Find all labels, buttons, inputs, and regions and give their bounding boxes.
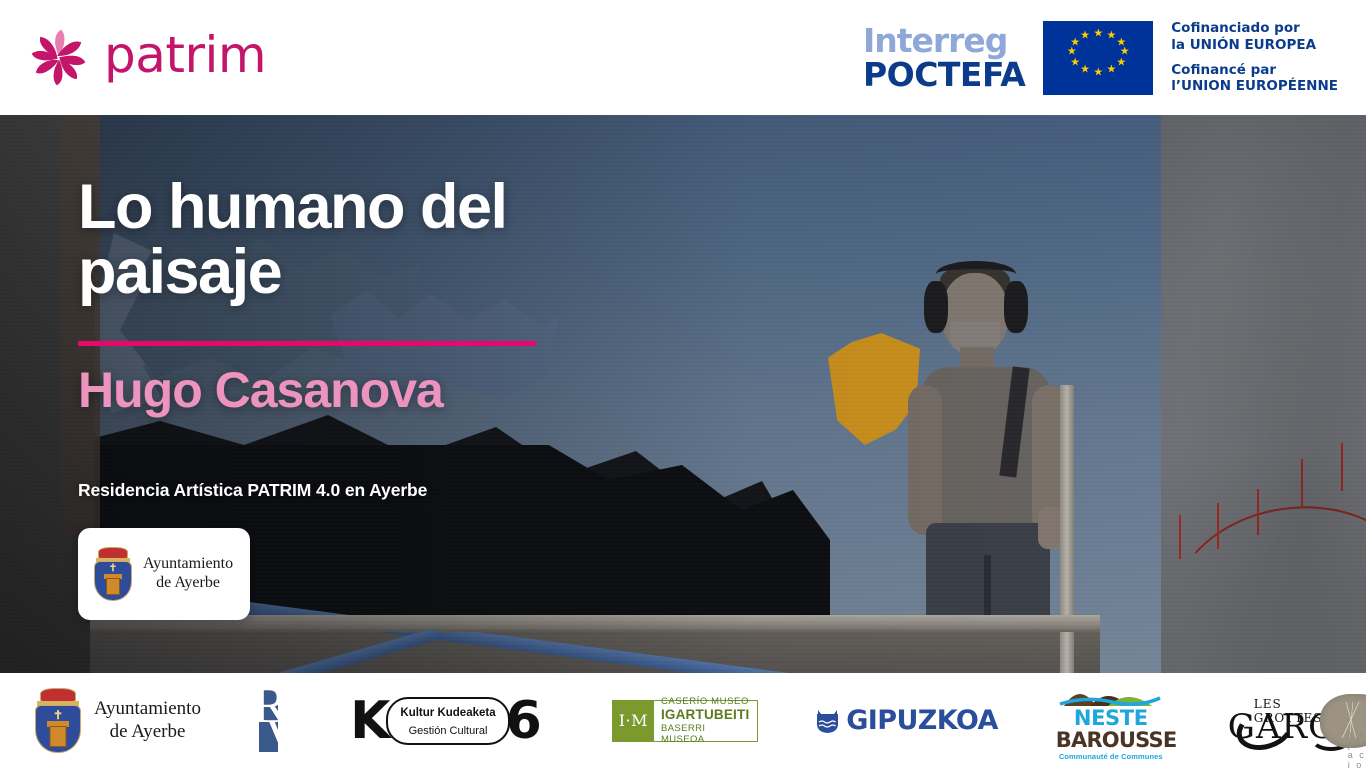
ayuntamiento-badge: ✝ Ayuntamiento de Ayerbe: [78, 528, 250, 620]
neste-line-1: NESTE: [1056, 708, 1166, 729]
footer-ayuntamiento-text: Ayuntamiento de Ayerbe: [94, 698, 201, 744]
patrim-brand: patrim: [28, 27, 266, 89]
ayuntamiento-badge-line-1: Ayuntamiento: [143, 555, 233, 574]
headphones-cup-right: [1004, 281, 1028, 333]
red-sketch-arc: [1159, 491, 1366, 673]
eu-funding-block: Interreg POCTEFA ★ ★ ★ ★ ★ ★ ★ ★ ★ ★ ★ ★…: [863, 20, 1338, 95]
hero-text-block: Lo humano del paisaje Hugo Casanova Resi…: [78, 175, 698, 501]
hero-divider-rule: [78, 341, 536, 346]
k6-letter-k: K: [350, 695, 390, 747]
footer-logo-k6: K Kultur Kudeaketa Gestión Cultural 6: [350, 695, 542, 747]
interreg-logo: Interreg POCTEFA: [863, 24, 1025, 91]
partner-logo-bar: ✝ Ayuntamiento de Ayerbe R V C K Kultur …: [0, 673, 1366, 768]
footer-logo-ayuntamiento: ✝ Ayuntamiento de Ayerbe: [30, 683, 201, 759]
neste-line-2: BAROUSSE: [1056, 729, 1166, 751]
igartubeiti-text: CASERÍO MUSEO IGARTUBEITI BASERRI MUSEOA: [654, 701, 757, 741]
patrim-wordmark: patrim: [104, 30, 266, 86]
headphones-band-icon: [936, 261, 1016, 287]
eu-funding-text: Cofinanciado por la UNIÓN EUROPEA Cofina…: [1171, 20, 1338, 95]
figure-arm-left: [908, 385, 942, 535]
footer-logo-neste-barousse: NESTE BAROUSSE Communauté de Communes: [1056, 680, 1166, 760]
footer-ayuntamiento-line-2: de Ayerbe: [94, 721, 201, 744]
eu-text-fr-2: l’UNION EUROPÉENNE: [1171, 78, 1338, 94]
headphones-cup-left: [924, 281, 948, 333]
k6-pill-line-1: Kultur Kudeaketa: [400, 707, 495, 719]
k6-pill-line-2: Gestión Cultural: [409, 725, 488, 737]
eu-text-es-2: la UNIÓN EUROPEA: [1171, 37, 1338, 53]
hero-title-line-1: Lo humano del: [78, 175, 698, 240]
ayerbe-crest-icon: ✝: [90, 543, 136, 605]
concrete-wall-right: [1161, 115, 1366, 673]
red-tick: [1179, 515, 1181, 559]
igartubeiti-line-3: BASERRI MUSEOA: [661, 723, 750, 745]
hero-artist-name: Hugo Casanova: [78, 364, 698, 417]
red-tick: [1217, 503, 1219, 549]
red-tick: [1301, 459, 1303, 507]
rvc-letter-c: C: [299, 712, 334, 764]
igartubeiti-line-2: IGARTUBEITI: [661, 707, 750, 723]
hero-title-line-2: paisaje: [78, 240, 698, 305]
eu-flag-icon: ★ ★ ★ ★ ★ ★ ★ ★ ★ ★ ★ ★: [1043, 21, 1153, 95]
ayuntamiento-badge-text: Ayuntamiento de Ayerbe: [143, 555, 233, 593]
interreg-label: Interreg: [863, 24, 1025, 58]
igartubeiti-line-1: CASERÍO MUSEO: [661, 696, 750, 707]
rvc-letter-v: V: [265, 712, 303, 764]
poctefa-label: POCTEFA: [863, 58, 1025, 92]
page-header: patrim Interreg POCTEFA ★ ★ ★ ★ ★ ★ ★ ★ …: [0, 0, 1366, 115]
hero-subtitle: Residencia Artística PATRIM 4.0 en Ayerb…: [78, 480, 698, 501]
gipuzkoa-wordmark: GIPUZKOA: [846, 705, 998, 736]
gipuzkoa-shield-icon: [816, 708, 839, 733]
k6-pill: Kultur Kudeaketa Gestión Cultural: [386, 697, 509, 745]
hero-section: Lo humano del paisaje Hugo Casanova Resi…: [0, 115, 1366, 673]
ayuntamiento-badge-line-2: de Ayerbe: [143, 574, 233, 593]
red-tick: [1257, 489, 1259, 535]
footer-logo-pirineos: e s p a c i o PIRI~ NEOS: [1320, 690, 1366, 752]
red-tick: [1341, 443, 1343, 491]
eu-text-es-1: Cofinanciado por: [1171, 20, 1338, 36]
igartubeiti-mark: I·M: [613, 701, 654, 741]
footer-ayuntamiento-line-1: Ayuntamiento: [94, 698, 201, 721]
artist-figure: [880, 255, 1120, 673]
pirineos-espacio-label: e s p a c i o: [1348, 730, 1366, 768]
footer-logo-rvc: R V C: [259, 690, 278, 752]
footer-logo-gipuzkoa: GIPUZKOA: [816, 705, 998, 736]
eu-text-fr-1: Cofinancé par: [1171, 62, 1338, 78]
footer-logo-gargas: LES GROTTES DE GARGAS: [1222, 691, 1276, 751]
ayerbe-crest-icon: ✝: [30, 683, 86, 759]
patrim-flower-icon: [28, 27, 90, 89]
footer-logo-igartubeiti: I·M CASERÍO MUSEO IGARTUBEITI BASERRI MU…: [612, 700, 758, 742]
neste-line-3: Communauté de Communes: [1056, 752, 1166, 761]
neste-mountain-icon: [1056, 680, 1166, 708]
k6-digit-six: 6: [506, 695, 542, 747]
